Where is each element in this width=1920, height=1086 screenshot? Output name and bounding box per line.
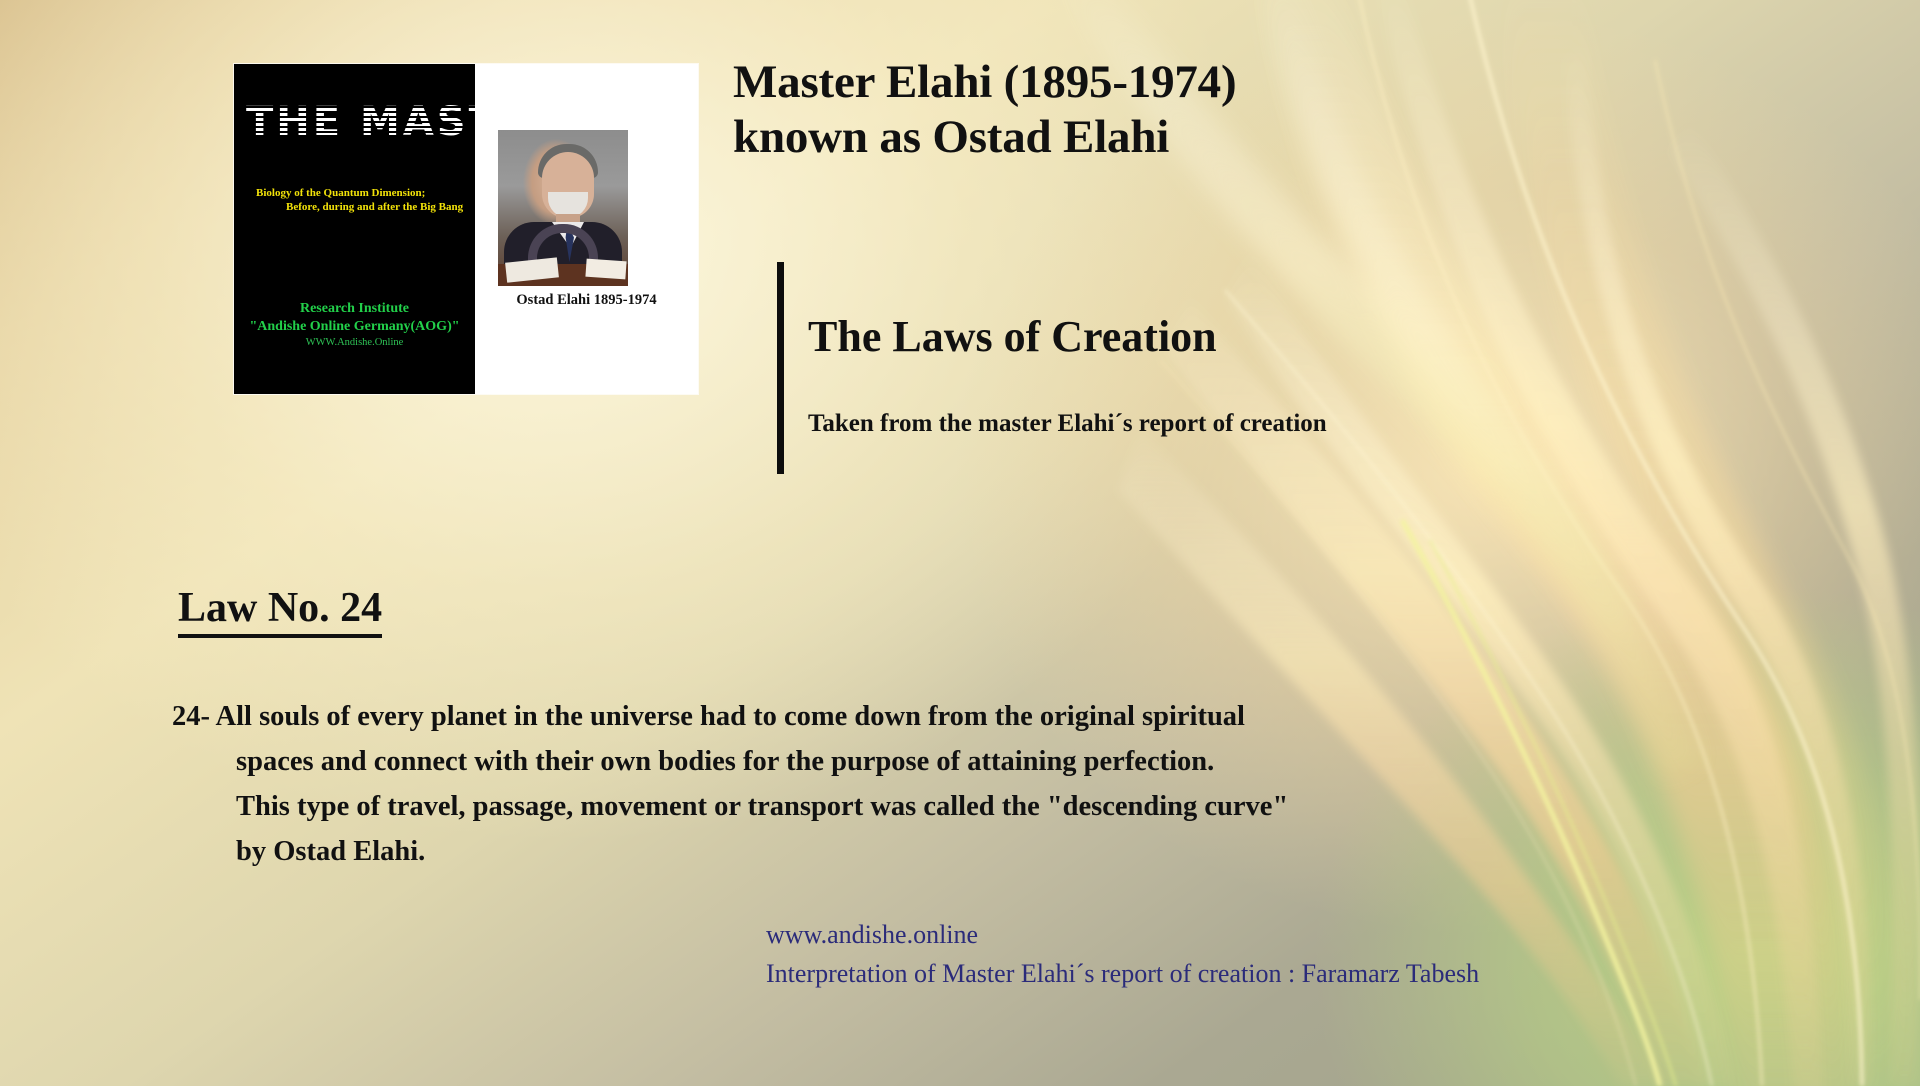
book-subtitle: Biology of the Quantum Dimension; Before… [256,186,466,214]
section-title: The Laws of Creation [808,312,1217,362]
law-body-line-2: spaces and connect with their own bodies… [172,739,1832,784]
law-body-line-1: 24- All souls of every planet in the uni… [172,701,1245,732]
page-title-line-2: known as Ostad Elahi [733,111,1169,163]
portrait-caption: Ostad Elahi 1895-1974 [475,292,698,309]
book-title-text: THE MASTER [246,98,475,146]
page-title-line-1: Master Elahi (1895-1974) [733,56,1236,108]
book-cover-back-panel: Ostad Elahi 1895-1974 [475,64,698,394]
section-subtitle: Taken from the master Elahi´s report of … [808,409,1327,439]
institute-website: WWW.Andishe.Online [234,336,475,350]
law-body-line-4: by Ostad Elahi. [172,829,1832,874]
research-institute-block: Research Institute "Andishe Online Germa… [234,300,475,350]
institute-line-2: "Andishe Online Germany(AOG)" [250,319,460,334]
law-body-text: 24- All souls of every planet in the uni… [172,694,1832,874]
book-subtitle-line1: Biology of the Quantum Dimension; [256,187,425,199]
institute-line-1: Research Institute [300,301,409,316]
page-title: Master Elahi (1895-1974) known as Ostad … [733,55,1236,165]
law-number-heading: Law No. 24 [178,583,382,638]
ostad-elahi-portrait-photo [498,130,628,286]
book-cover-front-panel: THE MASTER Biology of the Quantum Dimens… [234,64,475,394]
book-subtitle-line2: Before, during and after the Big Bang [256,200,466,214]
book-cover-image: THE MASTER Biology of the Quantum Dimens… [234,64,698,394]
law-body-line-3: This type of travel, passage, movement o… [172,784,1832,829]
footer: www.andishe.online Interpretation of Mas… [766,915,1479,993]
footer-credit-text: Interpretation of Master Elahi´s report … [766,959,1479,988]
presentation-slide: THE MASTER Biology of the Quantum Dimens… [0,0,1920,1086]
footer-website-link[interactable]: www.andishe.online [766,920,978,949]
section-accent-bar [777,262,784,474]
